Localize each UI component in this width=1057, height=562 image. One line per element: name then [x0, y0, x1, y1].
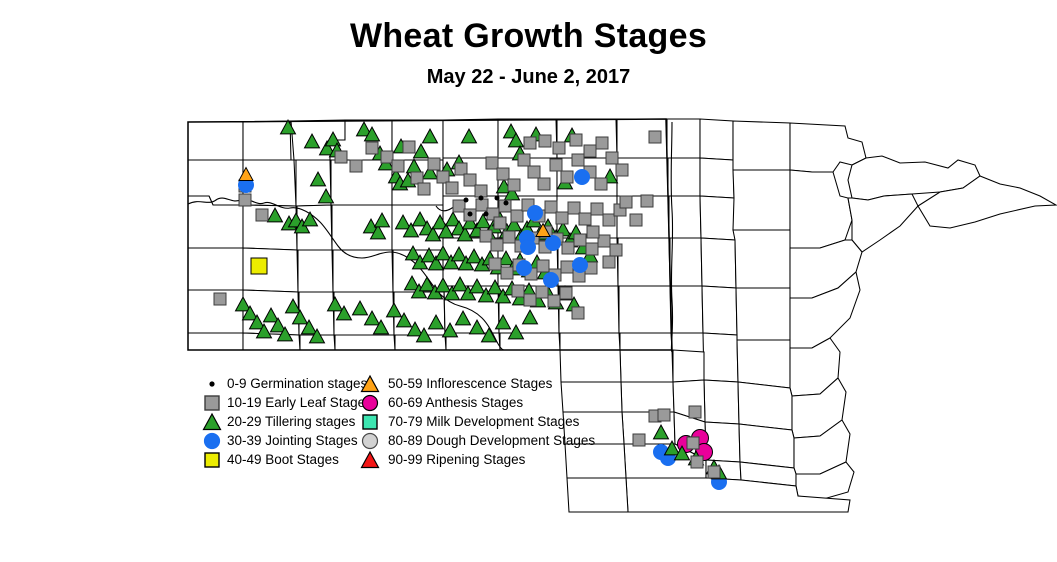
- legend-row-90-99[interactable]: 90-99 Ripening Stages: [358, 450, 574, 469]
- legend-row-40-49[interactable]: 40-49 Boot Stages: [200, 450, 368, 469]
- legend-symbol-square-icon: [205, 396, 219, 410]
- legend-column-right: 50-59 Inflorescence Stages60-69 Anthesis…: [358, 374, 574, 469]
- growth-stage-legend: 0-9 Germination stages10-19 Early Leaf S…: [200, 374, 572, 468]
- north-dakota-counties: [188, 119, 672, 350]
- legend-label-20-29: 20-29 Tillering stages: [227, 413, 355, 430]
- legend-label-10-19: 10-19 Early Leaf Stages: [227, 394, 372, 411]
- legend-symbol-circle-icon: [363, 434, 378, 449]
- legend-10-19-icon: [200, 393, 226, 412]
- legend-row-60-69[interactable]: 60-69 Anthesis Stages: [358, 393, 574, 412]
- legend-row-50-59[interactable]: 50-59 Inflorescence Stages: [358, 374, 574, 393]
- legend-row-10-19[interactable]: 10-19 Early Leaf Stages: [200, 393, 368, 412]
- legend-symbol-triangle-icon: [362, 452, 379, 468]
- legend-symbol-circle-icon: [363, 396, 378, 411]
- page-root: Wheat Growth Stages May 22 - June 2, 201…: [0, 0, 1057, 562]
- legend-20-29-icon: [200, 412, 226, 431]
- legend-30-39-icon: [200, 431, 226, 450]
- legend-40-49-icon: [200, 450, 226, 469]
- legend-50-59-icon: [358, 374, 384, 393]
- legend-label-0-9: 0-9 Germination stages: [227, 375, 367, 392]
- legend-symbol-triangle-icon: [204, 414, 221, 430]
- legend-symbol-square-icon: [363, 415, 377, 429]
- legend-row-20-29[interactable]: 20-29 Tillering stages: [200, 412, 368, 431]
- legend-symbol-circle-icon: [205, 434, 220, 449]
- legend-label-30-39: 30-39 Jointing Stages: [227, 432, 358, 449]
- legend-label-70-79: 70-79 Milk Development Stages: [388, 413, 579, 430]
- map-container: [0, 0, 1057, 562]
- legend-symbol-square-icon: [205, 453, 219, 467]
- legend-row-80-89[interactable]: 80-89 Dough Development Stages: [358, 431, 574, 450]
- legend-column-left: 0-9 Germination stages10-19 Early Leaf S…: [200, 374, 368, 469]
- state-county-map: [0, 0, 1057, 562]
- legend-80-89-icon: [358, 431, 384, 450]
- legend-row-0-9[interactable]: 0-9 Germination stages: [200, 374, 368, 393]
- legend-label-40-49: 40-49 Boot Stages: [227, 451, 339, 468]
- legend-row-70-79[interactable]: 70-79 Milk Development Stages: [358, 412, 574, 431]
- legend-symbol-triangle-icon: [362, 376, 379, 392]
- legend-60-69-icon: [358, 393, 384, 412]
- legend-70-79-icon: [358, 412, 384, 431]
- legend-label-90-99: 90-99 Ripening Stages: [388, 451, 525, 468]
- legend-90-99-icon: [358, 450, 384, 469]
- legend-0-9-icon: [200, 374, 226, 393]
- legend-label-60-69: 60-69 Anthesis Stages: [388, 394, 523, 411]
- legend-label-50-59: 50-59 Inflorescence Stages: [388, 375, 552, 392]
- legend-symbol-dot-icon: [209, 381, 214, 386]
- legend-label-80-89: 80-89 Dough Development Stages: [388, 432, 595, 449]
- legend-row-30-39[interactable]: 30-39 Jointing Stages: [200, 431, 368, 450]
